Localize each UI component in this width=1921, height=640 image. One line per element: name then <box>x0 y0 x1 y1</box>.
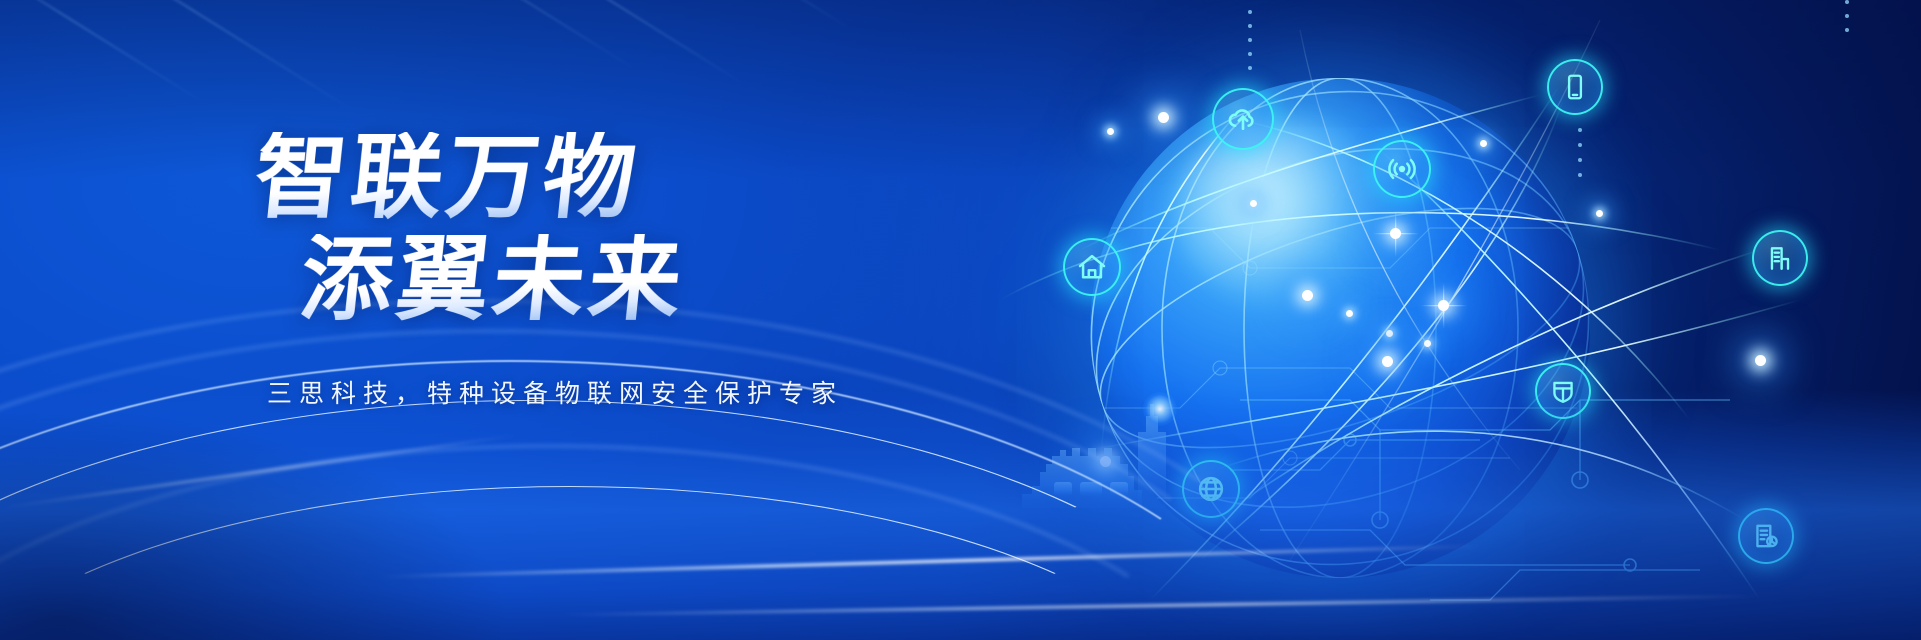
network-node <box>1596 210 1603 217</box>
wifi-signal-icon[interactable] <box>1373 140 1431 198</box>
mobile-phone-icon[interactable] <box>1547 59 1603 115</box>
headline-line-2: 添翼未来 <box>296 234 1020 326</box>
globe-network-icon[interactable] <box>1182 460 1240 518</box>
cloud-upload-icon[interactable] <box>1212 88 1274 150</box>
globe-meridians <box>1090 78 1590 578</box>
hero-banner: 智联万物 添翼未来 三思科技，特种设备物联网安全保护专家 <box>0 0 1921 640</box>
building-icon[interactable] <box>1752 230 1808 286</box>
network-node <box>1755 355 1766 366</box>
globe-graphic <box>1090 78 1590 578</box>
light-streak <box>560 595 1760 617</box>
light-trail <box>0 445 1260 640</box>
light-streak <box>2 434 517 509</box>
document-sync-icon[interactable] <box>1738 508 1794 564</box>
subtitle: 三思科技，特种设备物联网安全保护专家 <box>267 374 1015 410</box>
headline-line-1: 智联万物 <box>250 132 1020 224</box>
light-trail <box>0 486 1230 640</box>
headline-block: 智联万物 添翼未来 三思科技，特种设备物联网安全保护专家 <box>255 132 1015 410</box>
home-icon[interactable] <box>1063 238 1121 296</box>
water-surface <box>0 390 1921 640</box>
shield-icon[interactable] <box>1535 363 1591 419</box>
